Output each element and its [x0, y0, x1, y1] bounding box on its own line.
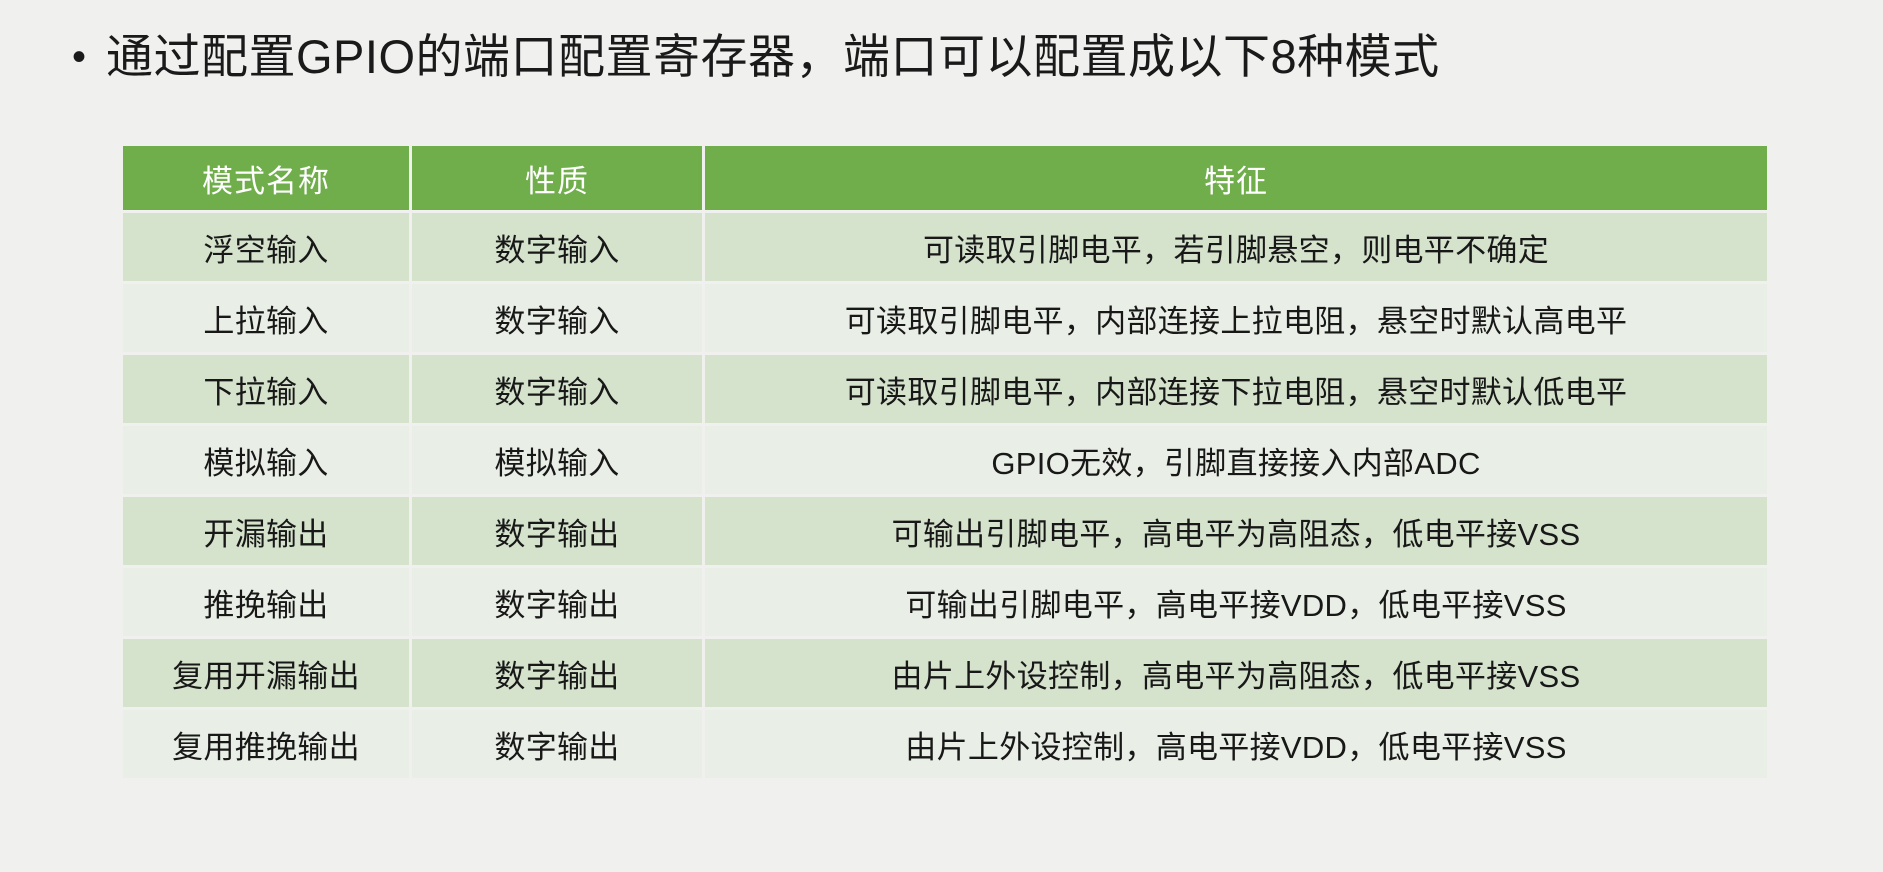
- cell-nature: 数字输入: [412, 355, 702, 423]
- cell-nature: 模拟输入: [412, 426, 702, 494]
- page-title: 通过配置GPIO的端口配置寄存器，端口可以配置成以下8种模式: [106, 18, 1440, 96]
- table-row: 浮空输入 数字输入 可读取引脚电平，若引脚悬空，则电平不确定: [123, 213, 1767, 281]
- bullet-point-icon: •: [72, 18, 106, 96]
- cell-feature: 由片上外设控制，高电平为高阻态，低电平接VSS: [705, 639, 1767, 707]
- slide-canvas: • 通过配置GPIO的端口配置寄存器，端口可以配置成以下8种模式 模式名称 性质…: [0, 0, 1883, 872]
- cell-mode-name: 上拉输入: [123, 284, 409, 352]
- cell-mode-name: 下拉输入: [123, 355, 409, 423]
- table-row: 下拉输入 数字输入 可读取引脚电平，内部连接下拉电阻，悬空时默认低电平: [123, 355, 1767, 423]
- gpio-modes-table-container: 模式名称 性质 特征 浮空输入 数字输入 可读取引脚电平，若引脚悬空，则电平不确…: [120, 143, 1770, 781]
- cell-nature: 数字输出: [412, 497, 702, 565]
- cell-mode-name: 浮空输入: [123, 213, 409, 281]
- cell-feature: 由片上外设控制，高电平接VDD，低电平接VSS: [705, 710, 1767, 778]
- table-row: 开漏输出 数字输出 可输出引脚电平，高电平为高阻态，低电平接VSS: [123, 497, 1767, 565]
- heading-bullet-row: • 通过配置GPIO的端口配置寄存器，端口可以配置成以下8种模式: [0, 0, 1883, 96]
- table-row: 推挽输出 数字输出 可输出引脚电平，高电平接VDD，低电平接VSS: [123, 568, 1767, 636]
- cell-nature: 数字输出: [412, 710, 702, 778]
- cell-mode-name: 模拟输入: [123, 426, 409, 494]
- cell-nature: 数字输入: [412, 213, 702, 281]
- cell-mode-name: 开漏输出: [123, 497, 409, 565]
- cell-mode-name: 复用开漏输出: [123, 639, 409, 707]
- cell-feature: 可读取引脚电平，内部连接下拉电阻，悬空时默认低电平: [705, 355, 1767, 423]
- table-row: 上拉输入 数字输入 可读取引脚电平，内部连接上拉电阻，悬空时默认高电平: [123, 284, 1767, 352]
- cell-nature: 数字输出: [412, 568, 702, 636]
- cell-nature: 数字输出: [412, 639, 702, 707]
- table-row: 复用推挽输出 数字输出 由片上外设控制，高电平接VDD，低电平接VSS: [123, 710, 1767, 778]
- column-header-mode-name: 模式名称: [123, 146, 409, 210]
- cell-mode-name: 复用推挽输出: [123, 710, 409, 778]
- cell-feature: 可输出引脚电平，高电平为高阻态，低电平接VSS: [705, 497, 1767, 565]
- cell-feature: 可输出引脚电平，高电平接VDD，低电平接VSS: [705, 568, 1767, 636]
- column-header-feature: 特征: [705, 146, 1767, 210]
- table-row: 复用开漏输出 数字输出 由片上外设控制，高电平为高阻态，低电平接VSS: [123, 639, 1767, 707]
- cell-feature: 可读取引脚电平，内部连接上拉电阻，悬空时默认高电平: [705, 284, 1767, 352]
- cell-feature: GPIO无效，引脚直接接入内部ADC: [705, 426, 1767, 494]
- table-row: 模拟输入 模拟输入 GPIO无效，引脚直接接入内部ADC: [123, 426, 1767, 494]
- cell-mode-name: 推挽输出: [123, 568, 409, 636]
- cell-nature: 数字输入: [412, 284, 702, 352]
- table-body: 浮空输入 数字输入 可读取引脚电平，若引脚悬空，则电平不确定 上拉输入 数字输入…: [123, 213, 1767, 778]
- cell-feature: 可读取引脚电平，若引脚悬空，则电平不确定: [705, 213, 1767, 281]
- column-header-nature: 性质: [412, 146, 702, 210]
- table-header-row: 模式名称 性质 特征: [123, 146, 1767, 210]
- table-header: 模式名称 性质 特征: [123, 146, 1767, 210]
- gpio-modes-table: 模式名称 性质 特征 浮空输入 数字输入 可读取引脚电平，若引脚悬空，则电平不确…: [120, 143, 1770, 781]
